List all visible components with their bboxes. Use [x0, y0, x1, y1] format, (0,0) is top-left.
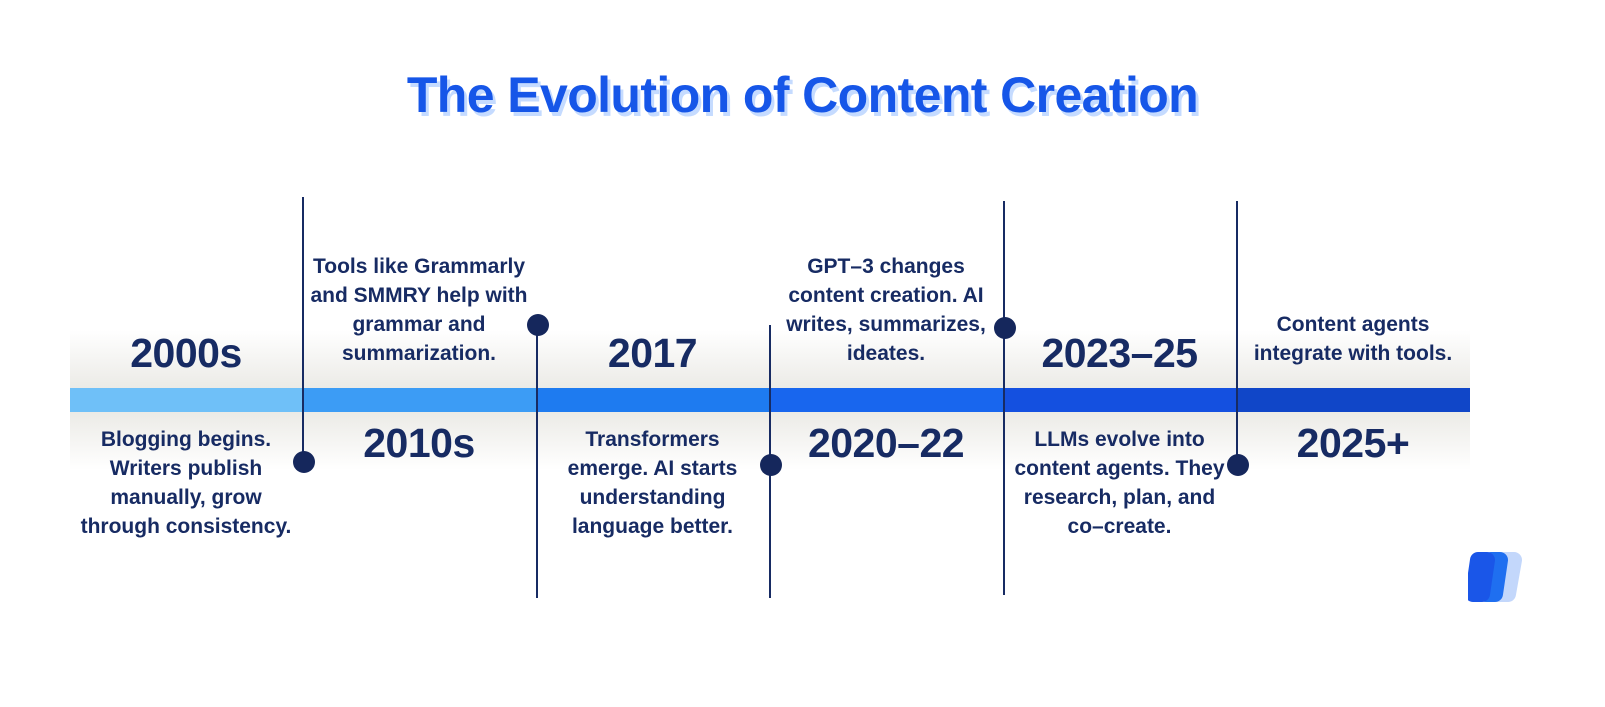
timeline-bar-segment: [1003, 388, 1236, 412]
timeline-year-label: 2000s: [68, 185, 304, 383]
timeline-bar-segment: [302, 388, 536, 412]
timeline-year-label: 2017: [545, 185, 761, 383]
timeline-year-label: 2023–25: [1010, 185, 1230, 383]
brand-logo-icon: [1468, 552, 1526, 604]
timeline-year-label: 2010s: [307, 422, 531, 693]
timeline-bar-segment: [536, 388, 769, 412]
timeline-description: Content agents integrate with tools.: [1235, 185, 1471, 383]
timeline-bar-segment: [1236, 388, 1470, 412]
timeline-year-label: 2025+: [1235, 422, 1471, 693]
timeline-description: Tools like Grammarly and SMMRY help with…: [307, 185, 531, 383]
infographic-canvas: The Evolution of Content Creation 2000sB…: [0, 0, 1605, 707]
timeline-description: LLMs evolve into content agents. They re…: [1010, 426, 1230, 697]
timeline-description: Blogging begins. Writers publish manuall…: [68, 426, 304, 697]
timeline-connector-line: [536, 325, 538, 598]
timeline-connector-line: [1003, 201, 1005, 595]
timeline-bar-segment: [769, 388, 1003, 412]
timeline-description: GPT–3 changes content creation. AI write…: [774, 185, 998, 383]
page-title: The Evolution of Content Creation: [0, 66, 1605, 124]
timeline-description: Transformers emerge. AI starts understan…: [545, 426, 761, 697]
timeline-year-label: 2020–22: [774, 422, 998, 693]
timeline-bar-segment: [70, 388, 302, 412]
